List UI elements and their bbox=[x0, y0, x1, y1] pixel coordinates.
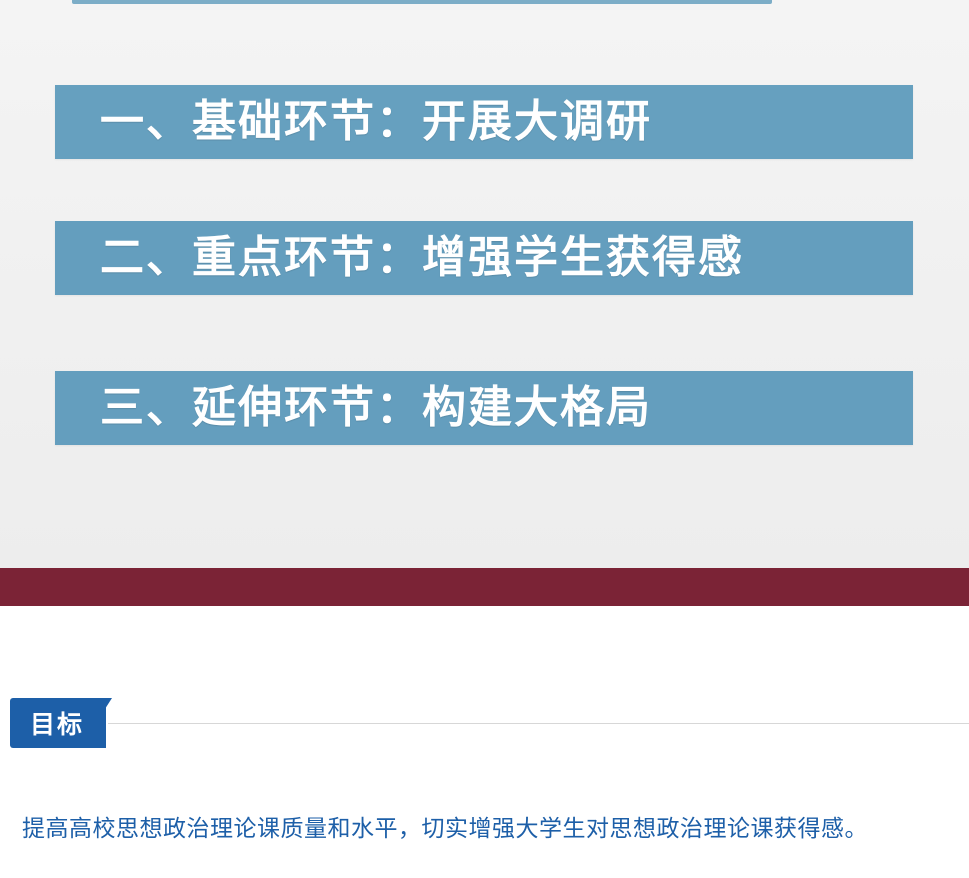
slide-bar-3: 三、延伸环节：构建大格局 bbox=[55, 371, 913, 445]
section-paragraph: 提高高校思想政治理论课质量和水平，切实增强大学生对思想政治理论课获得感。 bbox=[22, 811, 942, 846]
section-heading-row: 目标 bbox=[0, 698, 969, 748]
slide-bar-3-label: 三、延伸环节：构建大格局 bbox=[55, 386, 652, 430]
slide-area: 一、基础环节：开展大调研 二、重点环节：增强学生获得感 三、延伸环节：构建大格局 bbox=[0, 0, 969, 568]
page-root: 一、基础环节：开展大调研 二、重点环节：增强学生获得感 三、延伸环节：构建大格局… bbox=[0, 0, 969, 878]
slide-bar-2: 二、重点环节：增强学生获得感 bbox=[55, 221, 913, 295]
slide-bar-1: 一、基础环节：开展大调研 bbox=[55, 85, 913, 159]
content-section: 目标 提高高校思想政治理论课质量和水平，切实增强大学生对思想政治理论课获得感。 bbox=[0, 606, 969, 878]
slide-bar-2-label: 二、重点环节：增强学生获得感 bbox=[55, 236, 744, 280]
section-tag-notch-icon bbox=[96, 698, 112, 748]
slide-background: 一、基础环节：开展大调研 二、重点环节：增强学生获得感 三、延伸环节：构建大格局 bbox=[0, 0, 969, 568]
section-heading-rule bbox=[108, 723, 969, 724]
slide-bar-1-label: 一、基础环节：开展大调研 bbox=[55, 100, 652, 144]
top-partial-bar bbox=[72, 0, 772, 4]
section-tag: 目标 bbox=[10, 698, 106, 748]
section-tag-label: 目标 bbox=[30, 705, 84, 741]
maroon-divider bbox=[0, 568, 969, 606]
